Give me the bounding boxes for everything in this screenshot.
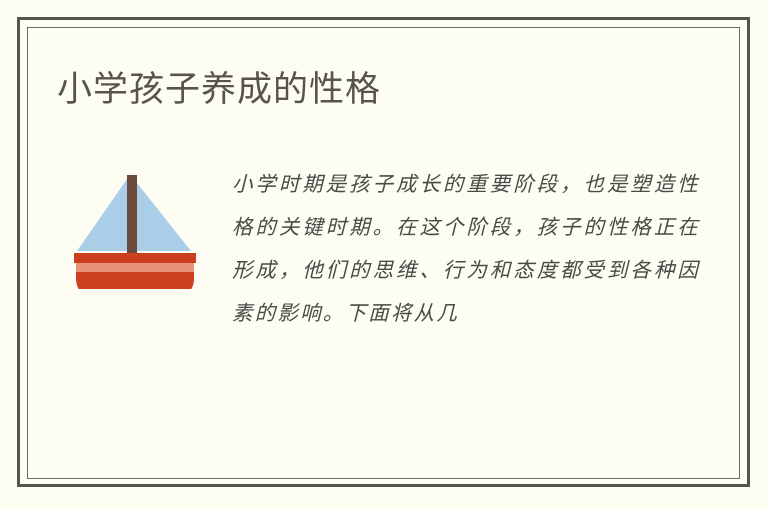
article-body: 小学时期是孩子成长的重要阶段，也是塑造性格的关键时期。在这个阶段，孩子的性格正在… <box>232 163 700 335</box>
sailboat-icon <box>67 153 203 289</box>
card-content: 小学孩子养成的性格 小学时期是孩子成长的重要阶段，也是塑造性格的关键时期。在这个… <box>27 27 740 479</box>
article-card: 小学孩子养成的性格 小学时期是孩子成长的重要阶段，也是塑造性格的关键时期。在这个… <box>0 0 768 510</box>
page-title: 小学孩子养成的性格 <box>57 69 381 111</box>
